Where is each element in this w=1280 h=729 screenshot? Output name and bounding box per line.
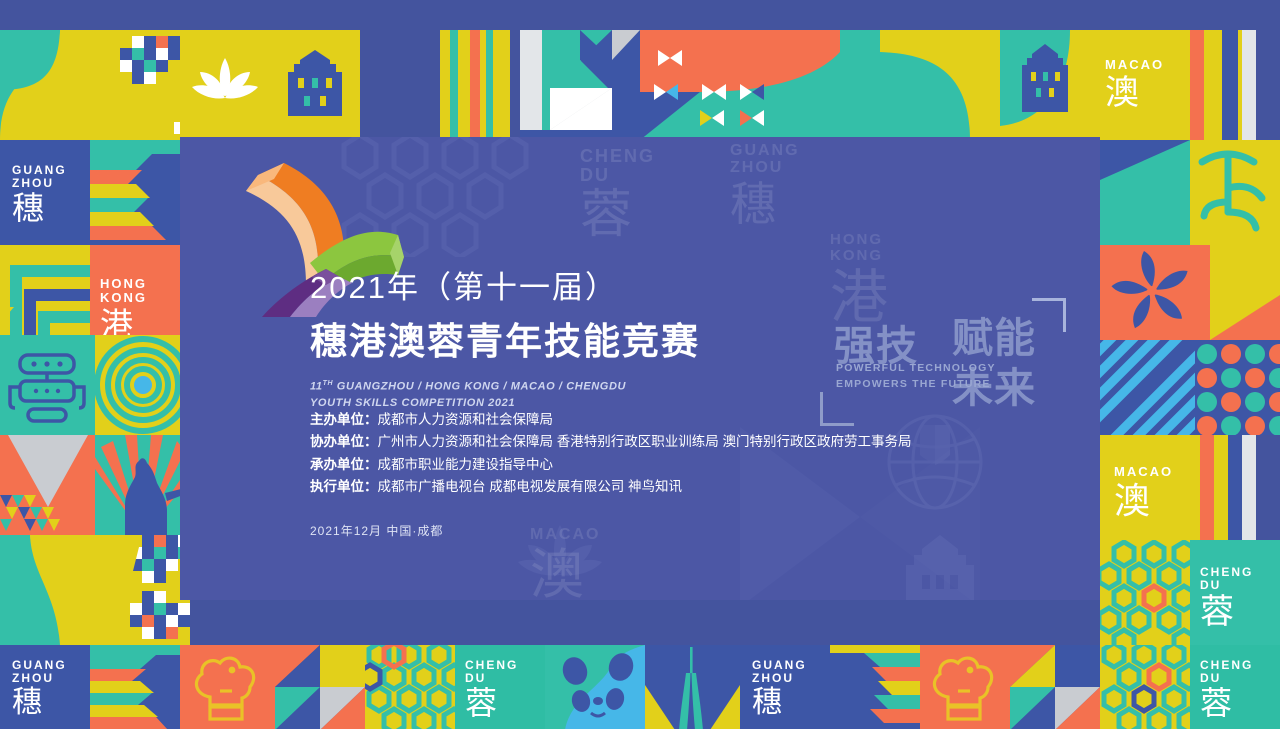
gz-en1: GUANG [12, 164, 67, 177]
tile-macao-label: MACAO 澳 [1000, 30, 1190, 140]
hexagon-pattern-bottom-right-icon [1100, 645, 1190, 729]
tile-diagonal-stripes [1100, 340, 1195, 435]
subtitle-num: 11 [310, 381, 323, 393]
tile-label-chengdu-bottom-right: CHENG DU 蓉 [1200, 659, 1253, 721]
subtitle-en: 11TH GUANGZHOU / HONG KONG / MACAO / CHE… [310, 379, 700, 412]
organizer-value: 广州市人力资源和社会保障局 香港特别行政区职业训练局 澳门特别行政区政府劳工事务… [378, 434, 912, 449]
subtitle-en-line1: 11TH GUANGZHOU / HONG KONG / MACAO / CHE… [310, 379, 700, 396]
cd-en1-b: CHENG [465, 659, 518, 672]
macao-en-right: MACAO [1114, 465, 1173, 479]
tile-label-macao-right: MACAO 澳 [1114, 465, 1173, 520]
organizer-list: 主办单位：成都市人力资源和社会保障局 协办单位：广州市人力资源和社会保障局 香港… [310, 409, 912, 498]
diagonal-stripes-shape [1100, 340, 1195, 435]
slogan-en-1: POWERFUL TECHNOLOGY [836, 362, 996, 374]
tile-chef-hat-right [920, 645, 1010, 729]
triangles-shape [520, 30, 640, 140]
organizer-row: 执行单位：成都市广播电视台 成都电视发展有限公司 神鸟知讯 [310, 476, 912, 498]
stripes-shape-b [1190, 30, 1280, 140]
tile-grey-triangle [0, 435, 95, 535]
tile-macao-ruins [270, 30, 360, 140]
organizer-value: 成都市人力资源和社会保障局 [378, 412, 554, 427]
dot-grid-shape [1195, 340, 1280, 435]
slogan-en-2: EMPOWERS THE FUTURE [836, 378, 991, 390]
tile-yellow-teal-curve-b [0, 535, 95, 645]
macao-cn: 澳 [1105, 75, 1164, 111]
tile-vertical-stripes-a [440, 30, 510, 140]
tile-chevron-stripes-bottom [90, 645, 180, 729]
tile-hex-pattern-right [1100, 540, 1190, 645]
hk-en1: HONG [100, 277, 147, 291]
organizer-value: 成都市职业能力建设指导中心 [378, 457, 554, 472]
tile-blue-corner-teal [1100, 140, 1190, 245]
tile-label-macao: MACAO 澳 [1105, 58, 1164, 111]
tile-sculpture [1190, 140, 1280, 245]
tile-guangzhou-label-top: GUANG ZHOU 穗 [0, 140, 90, 250]
edition-line: 2021年（第十一届） [310, 262, 700, 307]
stripes-shape [440, 30, 510, 140]
center-panel: CHENG DU 蓉 GUANG ZHOU 穗 HONG KONG 港 MACA… [180, 137, 1100, 600]
poster-root: MACAO 澳 GUANG ZHOU 穗 [0, 0, 1280, 729]
macao-en: MACAO [1105, 58, 1164, 72]
organizer-role: 协办单位： [310, 434, 378, 449]
cd-en1-r: CHENG [1200, 566, 1253, 579]
concentric-circles-icon [95, 335, 190, 435]
date-city: 2021年12月 中国·成都 [310, 522, 443, 539]
tile-yellow-nested-squares [0, 245, 90, 335]
hexagon-pattern-bottom-icon [365, 645, 455, 729]
nested-squares-shape [0, 245, 90, 335]
hk-en2: KONG [100, 291, 147, 305]
event-title: 穗港澳蓉青年技能竞赛 [310, 311, 700, 365]
tile-label-hongkong: HONG KONG 港 [100, 277, 147, 343]
slogan-watermark: 强技 赋能 未来 POWERFUL TECHNOLOGY EMPOWERS TH… [830, 302, 1060, 412]
gz-en1-b: GUANG [12, 659, 67, 672]
gz-cn-b: 穗 [12, 687, 67, 719]
statue-icon [95, 435, 190, 535]
tile-vertical-stripes-b [1190, 30, 1280, 140]
gz-cn-b2: 穗 [752, 687, 807, 719]
tile-panda [545, 645, 645, 729]
tile-chevron-stripes [90, 140, 180, 250]
tile-canton-tower [645, 645, 740, 729]
canton-tower-icon [645, 645, 740, 729]
tile-chevron-red-teal [830, 645, 920, 729]
tri-grey-red-shape [275, 645, 365, 729]
tile-macao-label-right: MACAO 澳 [1100, 435, 1200, 540]
cd-en2-r: DU [1200, 579, 1253, 592]
tile-hex-pattern-bottom [365, 645, 455, 729]
cd-cn-r: 蓉 [1200, 594, 1253, 630]
chef-hat-icon [180, 645, 275, 729]
tile-tri-grey-red [275, 645, 365, 729]
tri-grey-red-shape-right [1010, 645, 1100, 729]
triangle-mosaic-shape [0, 435, 95, 535]
tile-robot [0, 335, 95, 435]
gz-en2-b2: ZHOU [752, 672, 807, 685]
panda-icon [545, 645, 645, 729]
tile-label-chengdu-bottom: CHENG DU 蓉 [465, 659, 518, 721]
tile-chef-hat-left [180, 645, 275, 729]
gz-en2: ZHOU [12, 177, 67, 190]
tile-bowtie-pattern [640, 30, 840, 140]
organizer-role: 执行单位： [310, 479, 378, 494]
gz-en1-b2: GUANG [752, 659, 807, 672]
cd-en1-br: CHENG [1200, 659, 1253, 672]
cd-cn-br: 蓉 [1200, 687, 1253, 721]
bauhinia-flower-icon [1100, 245, 1210, 340]
organizer-row: 主办单位：成都市人力资源和社会保障局 [310, 409, 912, 431]
tile-yellow-corner [1210, 245, 1280, 340]
tile-chengdu-label-bottom-right: CHENG DU 蓉 [1190, 645, 1280, 729]
stripes-shape-c [1200, 435, 1280, 540]
tile-triangle-cluster [520, 30, 640, 140]
organizer-row: 承办单位：成都市职业能力建设指导中心 [310, 454, 912, 476]
tile-label-guangzhou-bottom: GUANG ZHOU 穗 [12, 659, 67, 719]
chevron-shape-b [90, 645, 180, 729]
cd-en2-br: DU [1200, 672, 1253, 685]
tile-label-guangzhou-bottom2: GUANG ZHOU 穗 [752, 659, 807, 719]
gz-en2-b: ZHOU [12, 672, 67, 685]
hexagon-pattern-icon [1100, 540, 1190, 645]
slogan-bracket-top-right [1032, 298, 1066, 332]
tile-guangzhou-label-bottom2: GUANG ZHOU 穗 [740, 645, 830, 729]
tile-bauhinia [1100, 245, 1210, 340]
organizer-role: 主办单位： [310, 412, 378, 427]
subtitle-cities: GUANGZHOU / HONG KONG / MACAO / CHENGDU [333, 381, 626, 393]
chevron-red-shape [830, 645, 920, 729]
tile-guangzhou-label-bottom: GUANG ZHOU 穗 [0, 645, 90, 729]
tile-hex-pattern-bottom-right [1100, 645, 1190, 729]
tile-tri-grey-red-right [1010, 645, 1100, 729]
lotus-icon [180, 30, 270, 140]
panel-content: 强技 赋能 未来 POWERFUL TECHNOLOGY EMPOWERS TH… [180, 137, 1100, 600]
tile-vertical-stripes-c [1200, 435, 1280, 540]
bowtie-shapes [640, 30, 840, 140]
subtitle-sup: TH [323, 380, 334, 387]
tile-label-chengdu-right: CHENG DU 蓉 [1200, 566, 1253, 630]
macao-cn-right: 澳 [1114, 482, 1173, 520]
chef-hat-icon-right [920, 645, 1010, 729]
tile-chengdu-label-right: CHENG DU 蓉 [1190, 540, 1280, 645]
tile-statue-rays [95, 435, 190, 535]
tile-label-guangzhou: GUANG ZHOU 穗 [12, 164, 67, 226]
tile-lotus [180, 30, 270, 140]
chevron-shape [90, 140, 180, 250]
pinwheel-checker-b-shape [95, 535, 190, 645]
gz-cn: 穗 [12, 192, 67, 226]
cd-cn-b: 蓉 [465, 687, 518, 721]
tile-pinwheel-checker-b [95, 535, 190, 645]
curve-shape-b [0, 535, 95, 645]
organizer-role: 承办单位： [310, 457, 378, 472]
yellow-corner-shape [1210, 245, 1280, 340]
tile-concentric-circles [95, 335, 190, 435]
corner-triangle-shape [1100, 140, 1190, 245]
organizer-row: 协办单位：广州市人力资源和社会保障局 香港特别行政区职业训练局 澳门特别行政区政… [310, 431, 912, 453]
tile-dot-grid [1195, 340, 1280, 435]
cd-en2-b: DU [465, 672, 518, 685]
macao-ruins-icon [270, 30, 360, 140]
robot-icon [0, 335, 95, 435]
organizer-value: 成都市广播电视台 成都电视发展有限公司 神鸟知讯 [378, 479, 683, 494]
title-block: 2021年（第十一届） 穗港澳蓉青年技能竞赛 11TH GUANGZHOU / … [310, 262, 700, 412]
tile-chengdu-label-bottom: CHENG DU 蓉 [455, 645, 545, 729]
sculpture-icon [1190, 140, 1280, 245]
